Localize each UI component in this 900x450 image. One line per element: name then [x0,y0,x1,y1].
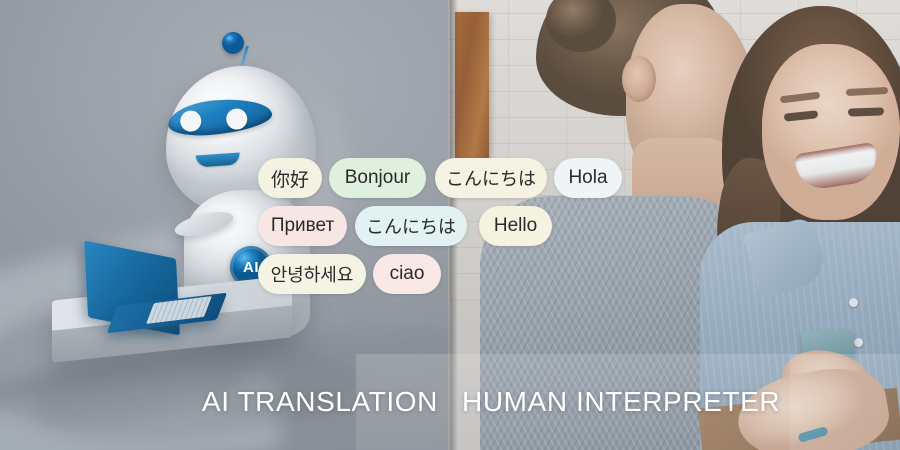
pill-bonjour[interactable]: Bonjour [329,158,426,198]
pill-privet[interactable]: Привет [258,206,347,246]
ai-badge-label: AI [243,259,259,276]
robot-antenna-ball-icon [222,32,244,54]
robot-eye-right [225,108,248,131]
pill-nihao[interactable]: 你好 [258,158,322,198]
caption-human-label: HUMAN INTERPRETER [462,386,780,418]
caption-human-interpreter: HUMAN INTERPRETER [450,354,900,450]
pill-annyeong[interactable]: 안녕하세요 [258,254,366,294]
comparison-banner: AI [0,0,900,450]
pill-konnichiwa-2[interactable]: こんにちは [355,206,467,246]
robot-eye-left [179,110,202,133]
pill-hola[interactable]: Hola [554,158,622,198]
pill-ciao[interactable]: ciao [373,254,441,294]
caption-ai-translation: AI TRANSLATION [0,354,450,450]
robot-arm [172,207,235,241]
pill-konnichiwa-1[interactable]: こんにちは [435,158,547,198]
pill-hello[interactable]: Hello [479,206,552,246]
caption-ai-label: AI TRANSLATION [202,386,438,418]
